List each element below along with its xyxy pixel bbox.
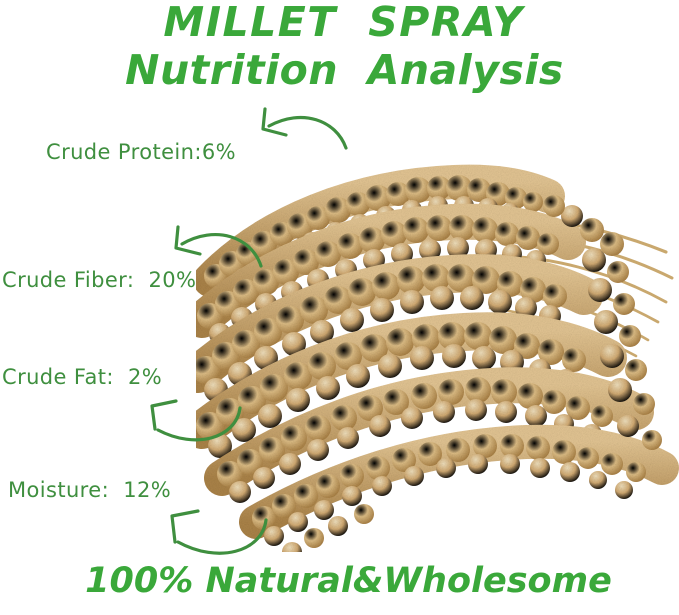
nutrient-label-crude-fat: Crude Fat: 2% bbox=[2, 365, 162, 389]
arrow-to-protein bbox=[250, 104, 360, 156]
nutrient-label-moisture: Moisture: 12% bbox=[8, 478, 171, 502]
nutrient-label-crude-protein: Crude Protein:6% bbox=[46, 140, 236, 164]
title-line-1: MILLET SPRAY bbox=[0, 2, 679, 43]
nutrition-infographic: MILLET SPRAY Nutrition Analysis bbox=[0, 0, 679, 615]
title-line-2: Nutrition Analysis bbox=[0, 50, 679, 91]
nutrient-label-crude-fiber: Crude Fiber: 20% bbox=[2, 268, 196, 292]
millet-spikes bbox=[196, 175, 662, 552]
tagline: 100% Natural&Wholesome bbox=[0, 561, 679, 601]
millet-spray-photo bbox=[196, 160, 679, 552]
page-title: MILLET SPRAY Nutrition Analysis bbox=[0, 2, 679, 91]
